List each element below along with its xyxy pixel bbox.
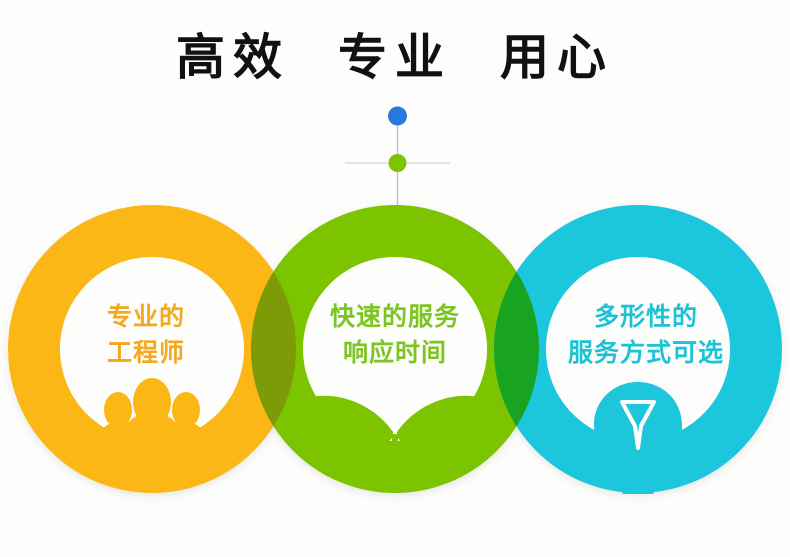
headline-word-1: 高效 xyxy=(176,32,290,86)
ring-label-response-time-line-2: 响应时间 xyxy=(288,336,502,372)
green-accent-dot xyxy=(389,154,407,172)
ring-label-response-time: 快速的服务 响应时间 xyxy=(288,300,502,371)
headline-word-3: 用心 xyxy=(500,32,614,86)
ring-label-engineers-line-1: 专业的 xyxy=(46,300,246,336)
poster-canvas: 高效专业用心 xyxy=(0,0,790,557)
ring-label-service-modes: 多形性的 服务方式可选 xyxy=(528,300,764,371)
headline-word-2: 专业 xyxy=(338,32,452,86)
page-title: 高效专业用心 xyxy=(0,32,790,86)
ring-label-engineers: 专业的 工程师 xyxy=(46,300,246,371)
ring-label-response-time-line-1: 快速的服务 xyxy=(288,300,502,336)
ring-label-service-modes-line-1: 多形性的 xyxy=(528,300,764,336)
blue-accent-dot xyxy=(388,107,407,126)
ring-label-service-modes-line-2: 服务方式可选 xyxy=(528,336,764,372)
ring-label-engineers-line-2: 工程师 xyxy=(46,336,246,372)
